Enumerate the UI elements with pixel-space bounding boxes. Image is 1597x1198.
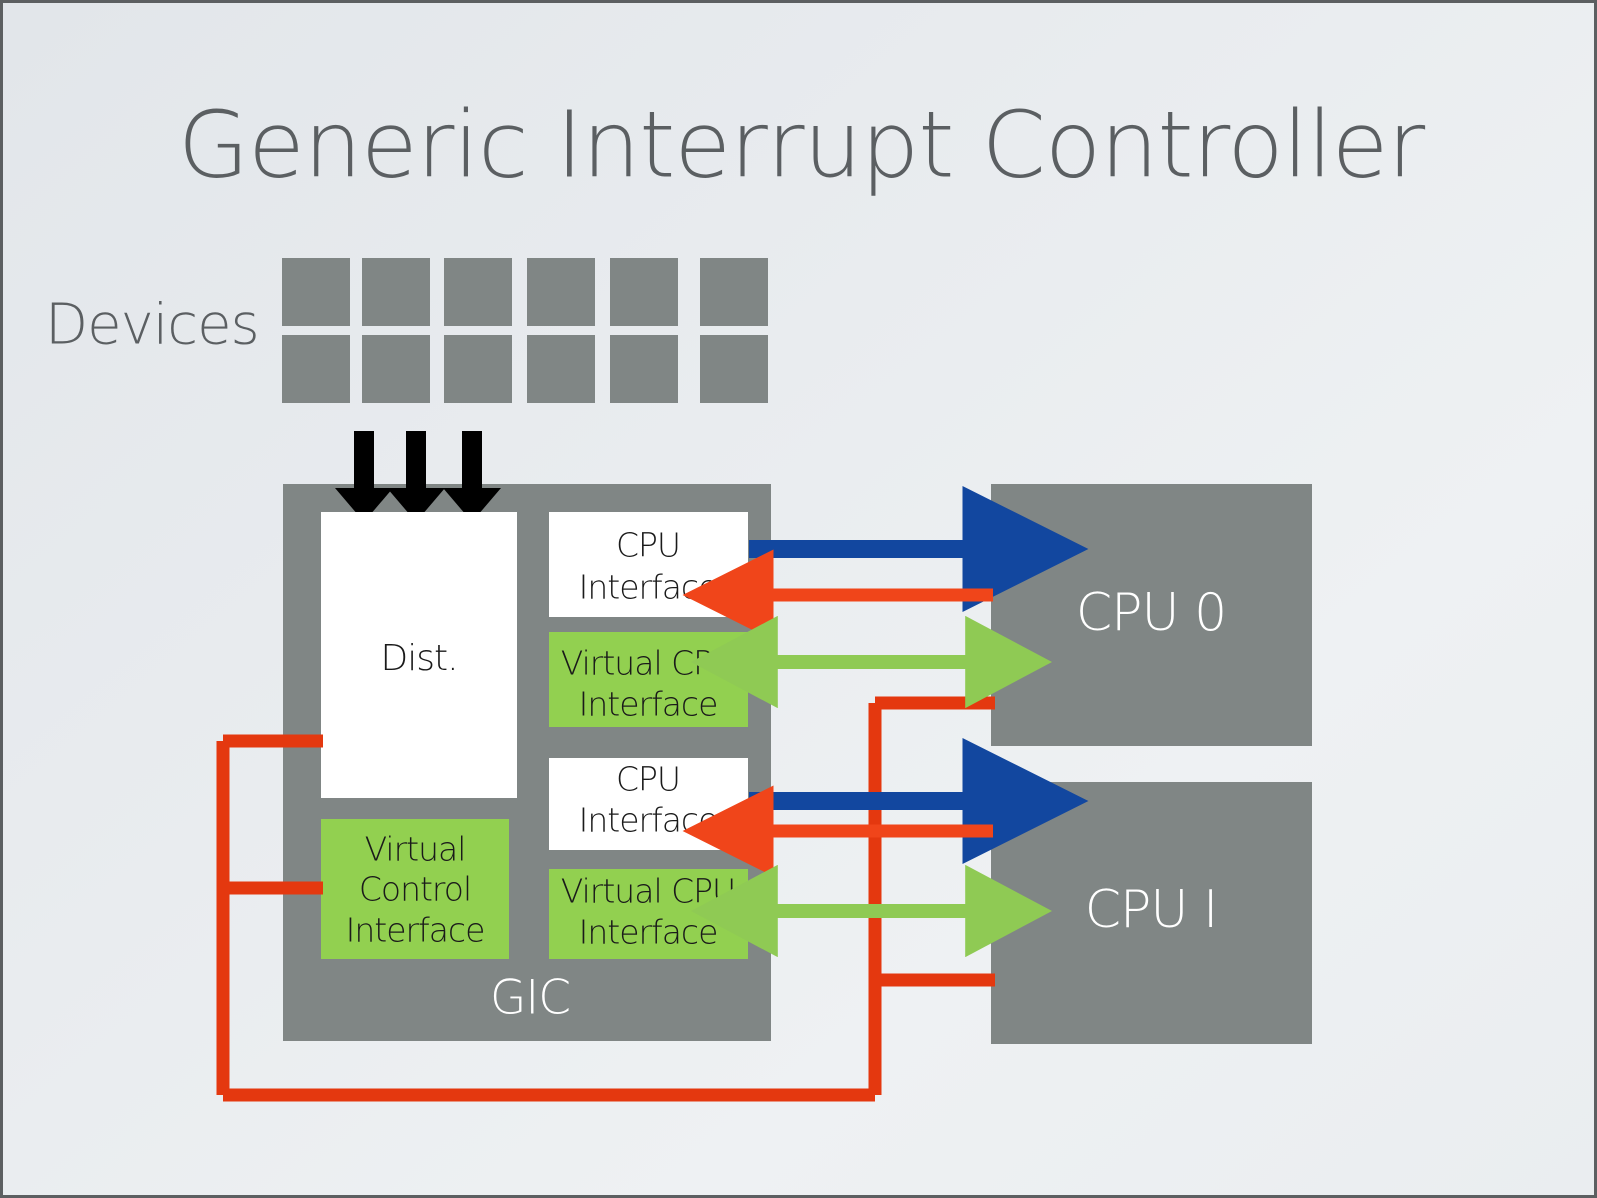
virtual-cpu-interface-1-label-line2: Interface [579,913,718,952]
device-tile [282,258,350,326]
device-tile [700,335,768,403]
slide-canvas: Generic Interrupt Controller Devices [0,0,1597,1198]
virtual-cpu-interface-0-label-line2: Interface [579,685,718,724]
virtual-cpu-interface-1-label-line1: Virtual CPU [561,872,735,911]
page-title: Generic Interrupt Controller [178,92,1426,199]
device-tile [527,335,595,403]
cpu-0-signals [749,549,993,662]
devices-label: Devices [45,292,259,357]
cpu-1-label: CPU I [1085,880,1218,940]
gic-architecture-diagram: Generic Interrupt Controller Devices [3,3,1597,1198]
device-tile [362,258,430,326]
distributor-label: Dist. [380,638,457,679]
device-tile [362,335,430,403]
virtual-control-interface-label-line1: Virtual [365,830,466,869]
gic-label: GIC [490,971,570,1026]
virtual-control-interface-label-line3: Interface [346,911,485,950]
device-tile [610,258,678,326]
cpu-interface-0-label-line1: CPU [616,526,680,565]
virtual-control-interface-label-line2: Control [359,870,471,909]
virtual-cpu-interface-0-label-line1: Virtual CPU [561,644,735,683]
cpu-0-label: CPU 0 [1076,583,1226,643]
device-tile [444,335,512,403]
devices-grid [282,258,768,403]
device-tile [527,258,595,326]
cpu-interface-1-label-line2: Interface [579,801,718,840]
cpu-interface-0-label-line2: Interface [579,568,718,607]
device-tile [282,335,350,403]
device-tile [444,258,512,326]
device-interrupt-arrows [335,431,501,522]
cpu-interface-1-label-line1: CPU [616,760,680,799]
device-tile [610,335,678,403]
device-tile [700,258,768,326]
